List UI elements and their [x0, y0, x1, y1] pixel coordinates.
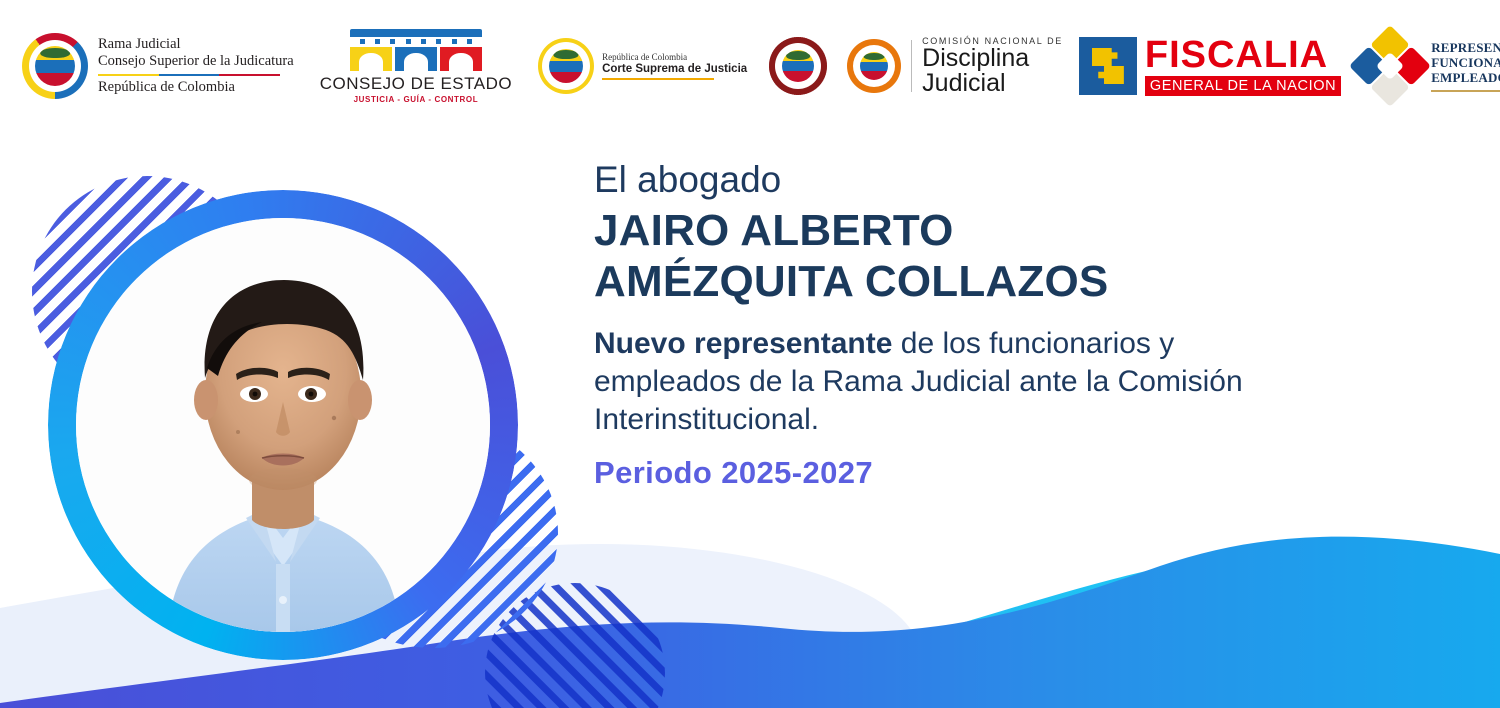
logo-rama-judicial-line3: República de Colombia: [98, 79, 294, 96]
logo-rama-judicial-line2: Consejo Superior de la Judicatura: [98, 53, 294, 71]
colombia-seal-icon: [538, 38, 594, 94]
logo-consejo-de-estado: CONSEJO DE ESTADO JUSTICIA - GUÍA - CONT…: [320, 29, 512, 104]
logo-representante-line1: REPRESENTANTE DE: [1431, 40, 1500, 55]
eyebrow-text: El abogado: [594, 160, 1274, 201]
logo-representante-funcionarios-empleados: REPRESENTANTE DE FUNCIONARIOS Y EMPLEADO…: [1359, 35, 1500, 97]
logo-consejo-de-estado-tagline: JUSTICIA - GUÍA - CONTROL: [354, 95, 479, 104]
disciplina-judicial-seal-icon: [847, 39, 901, 93]
colombia-seal-icon: [22, 33, 88, 99]
description-text: Nuevo representante de los funcionarios …: [594, 325, 1274, 439]
gold-divider: [1431, 90, 1500, 92]
logo-fiscalia-line2: GENERAL DE LA NACION: [1145, 76, 1341, 96]
logo-disciplina-line3: Judicial: [922, 71, 1063, 97]
banner-canvas: Rama Judicial Consejo Superior de la Jud…: [0, 0, 1500, 708]
vertical-divider: [911, 40, 912, 92]
puzzle-piece-icon: [1079, 37, 1137, 95]
corte-constitucional-seal-icon: [769, 37, 827, 95]
arch-building-icon: [350, 29, 482, 71]
person-name-line-2: AMÉZQUITA COLLAZOS: [594, 256, 1274, 307]
logo-rama-judicial-line1: Rama Judicial: [98, 36, 294, 54]
portrait-block: [18, 168, 538, 618]
logo-corte-constitucional: [769, 37, 827, 95]
tricolor-divider: [98, 74, 280, 77]
headline-block: El abogado JAIRO ALBERTO AMÉZQUITA COLLA…: [594, 160, 1274, 491]
logo-rama-judicial: Rama Judicial Consejo Superior de la Jud…: [0, 33, 294, 99]
logo-consejo-de-estado-name: CONSEJO DE ESTADO: [320, 74, 512, 94]
person-name-line-1: JAIRO ALBERTO: [594, 205, 1274, 256]
description-bold: Nuevo representante: [594, 327, 892, 360]
institutional-logo-strip: Rama Judicial Consejo Superior de la Jud…: [0, 0, 1500, 132]
period-text: Periodo 2025-2027: [594, 455, 1274, 491]
logo-comision-nacional-disciplina-judicial: COMISIÓN NACIONAL DE Disciplina Judicial: [847, 36, 1063, 97]
portrait-photo: [76, 218, 490, 632]
logo-representante-line3: EMPLEADOS JUDICIALES: [1431, 70, 1500, 85]
joined-hands-icon: [1346, 22, 1434, 110]
logo-representante-line2: FUNCIONARIOS Y: [1431, 55, 1500, 70]
logo-corte-suprema-line2: Corte Suprema de Justicia: [602, 63, 747, 75]
logo-disciplina-line2: Disciplina: [922, 46, 1063, 72]
gold-divider: [602, 78, 714, 80]
logo-corte-suprema-line1: República de Colombia: [602, 52, 747, 62]
logo-corte-suprema-de-justicia: República de Colombia Corte Suprema de J…: [538, 38, 747, 94]
logo-fiscalia-general-de-la-nacion: FISCALIA GENERAL DE LA NACION: [1079, 36, 1341, 96]
logo-fiscalia-line1: FISCALIA: [1145, 36, 1341, 74]
